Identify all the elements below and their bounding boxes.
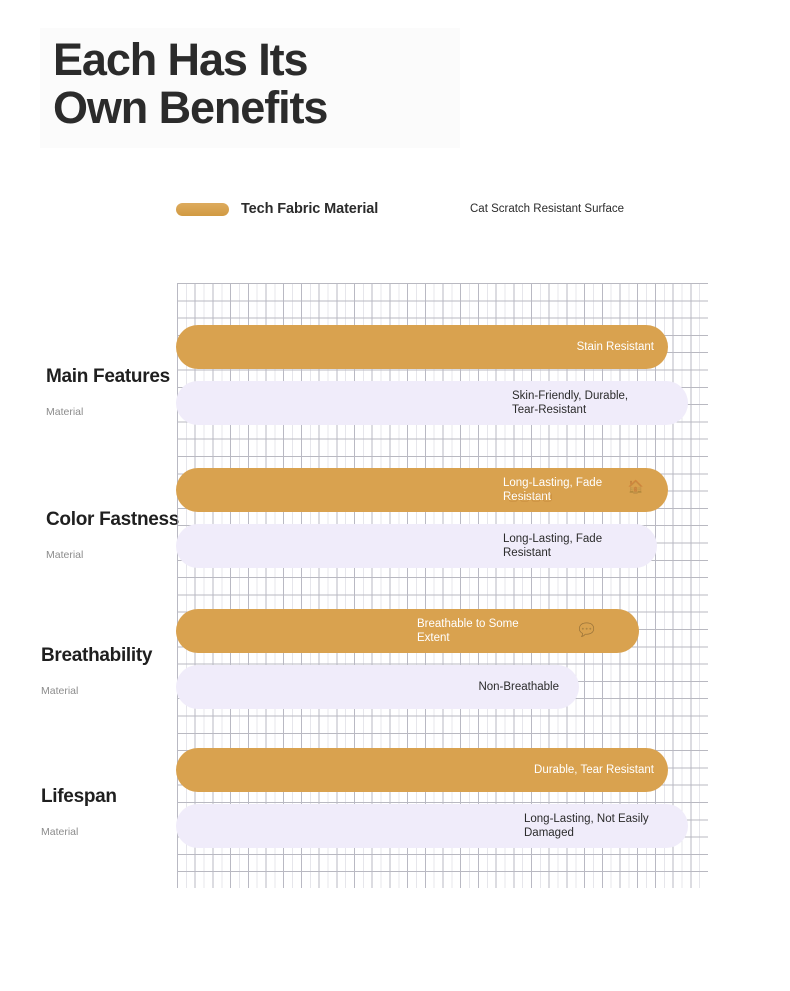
bar-label: Skin-Friendly, Durable, Tear-Resistant — [512, 389, 692, 417]
title-block: Each Has Its Own Benefits — [40, 28, 460, 148]
bar-main-features-cat-scratch-resistant-surface[interactable]: Skin-Friendly, Durable, Tear-Resistant — [176, 381, 688, 425]
bar-label: Stain Resistant — [454, 340, 654, 354]
bar-breathability-cat-scratch-resistant-surface[interactable]: Non-Breathable — [176, 665, 579, 709]
bar-breathability-tech-fabric-material[interactable]: Breathable to Some Extent 💬 — [176, 609, 639, 653]
bar-label: Breathable to Some Extent — [417, 617, 577, 645]
bar-label: Long-Lasting, Fade Resistant — [503, 476, 653, 504]
legend-swatch-icon-tech-fabric-material — [176, 203, 229, 216]
bar-label: Durable, Tear Resistant — [434, 763, 654, 777]
bar-label: Long-Lasting, Fade Resistant — [503, 532, 663, 560]
watermark-artifact-icon: 💬 — [579, 623, 595, 638]
chart-plot-area: Stain Resistant Skin-Friendly, Durable, … — [177, 283, 708, 888]
bar-color-fastness-tech-fabric-material[interactable]: Long-Lasting, Fade Resistant 🏠 ▢▢▢▢ — [176, 468, 668, 512]
chart-legend: Tech Fabric Material Cat Scratch Resista… — [0, 196, 790, 222]
bar-label: Non-Breathable — [359, 680, 559, 694]
legend-item-tech-fabric-material[interactable]: Tech Fabric Material — [176, 196, 378, 222]
chart-grid-minor — [177, 283, 708, 888]
bar-lifespan-tech-fabric-material[interactable]: Durable, Tear Resistant — [176, 748, 668, 792]
legend-label-cat-scratch-resistant-surface: Cat Scratch Resistant Surface — [470, 203, 624, 215]
bar-label: Long-Lasting, Not Easily Damaged — [524, 812, 714, 840]
bar-color-fastness-cat-scratch-resistant-surface[interactable]: Long-Lasting, Fade Resistant — [176, 524, 657, 568]
bar-main-features-tech-fabric-material[interactable]: Stain Resistant — [176, 325, 668, 369]
legend-label-tech-fabric-material: Tech Fabric Material — [241, 201, 378, 217]
bar-lifespan-cat-scratch-resistant-surface[interactable]: Long-Lasting, Not Easily Damaged — [176, 804, 688, 848]
page-title: Each Has Its Own Benefits — [53, 36, 453, 132]
legend-item-cat-scratch-resistant-surface[interactable]: Cat Scratch Resistant Surface — [470, 196, 624, 222]
